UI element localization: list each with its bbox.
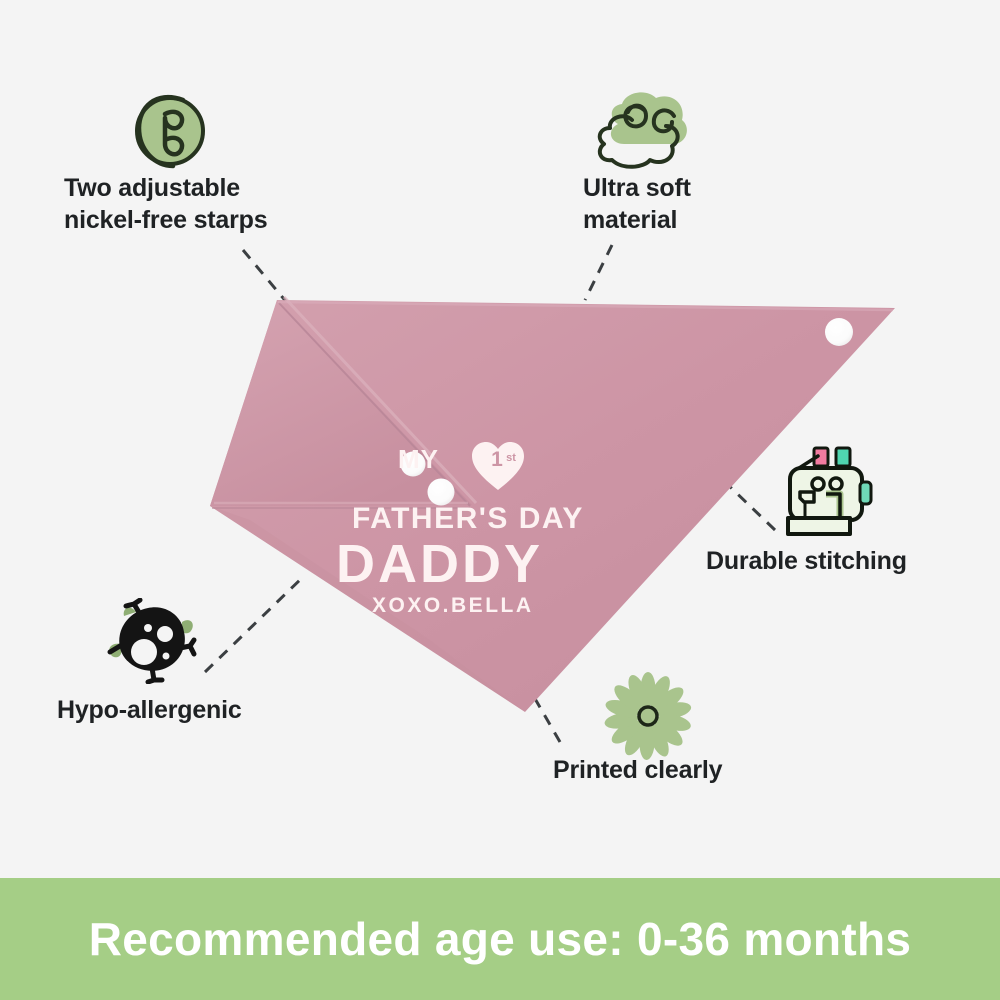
sewing-machine-icon (778, 440, 884, 542)
print-heart-badge: 1 st (470, 440, 526, 492)
banner-text: Recommended age use: 0-36 months (89, 912, 911, 966)
daisy-center (639, 707, 657, 725)
recommended-age-banner: Recommended age use: 0-36 months (0, 878, 1000, 1000)
print-badge-text: 1 (491, 448, 503, 471)
feature-label-adjustable-straps: Two adjustable nickel-free starps (64, 172, 314, 236)
strap-loop-icon (125, 78, 215, 174)
feature-label-printed-clearly: Printed clearly (553, 754, 813, 786)
snap-button-corner (825, 318, 853, 346)
leader-line-soft (585, 245, 612, 300)
cloud-icon (588, 80, 698, 170)
print-badge-suffix: st (506, 452, 516, 464)
feature-label-ultra-soft: Ultra soft material (583, 172, 813, 236)
leader-line-hypo (205, 575, 305, 672)
feature-label-hypo-allergenic: Hypo-allergenic (57, 694, 357, 726)
snap-button-lower (428, 479, 455, 506)
feature-label-durable-stitching: Durable stitching (706, 545, 976, 577)
snap-button-upper (401, 452, 426, 477)
infographic-canvas: MY 1 st FATHER'S DAY DADDY XOXO.BELLA Tw… (0, 0, 1000, 1000)
daisy-flower-icon (604, 672, 692, 760)
germ-icon (96, 598, 206, 684)
